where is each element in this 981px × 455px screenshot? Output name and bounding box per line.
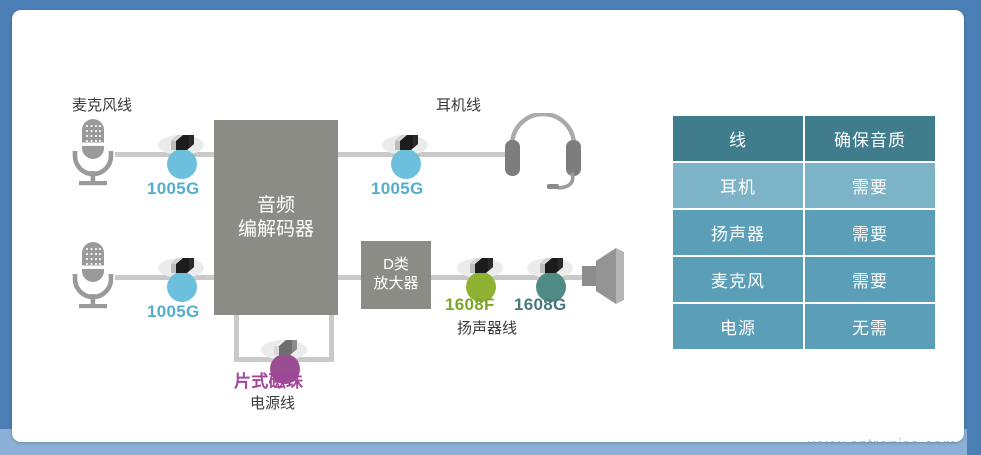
audio-codec-line2: 编解码器	[238, 218, 314, 242]
headset-icon	[500, 113, 586, 191]
microphone-icon-lower	[67, 241, 119, 309]
smd-chip-icon	[536, 255, 566, 277]
label-speaker-filter-f: 1608F	[445, 296, 495, 313]
amp-line2: 放大器	[373, 275, 418, 294]
outer-frame: 音频 编解码器 D类 放大器	[0, 0, 981, 455]
label-mic-lower-filter: 1005G	[147, 303, 200, 320]
smd-chip-icon	[167, 132, 197, 154]
label-speaker-line: 扬声器线	[457, 321, 517, 336]
diagram-panel: 音频 编解码器 D类 放大器	[12, 10, 964, 442]
spec-table-header-row: 线 确保音质	[673, 116, 935, 161]
label-power-chip-bead: 片式磁珠	[234, 373, 303, 390]
table-row: 耳机 需要	[673, 163, 935, 208]
frame-right-band	[967, 0, 981, 455]
cell-required: 无需	[805, 304, 935, 349]
class-d-amplifier-block: D类 放大器	[361, 241, 431, 309]
label-headphone-line: 耳机线	[436, 98, 481, 113]
cell-required: 需要	[805, 163, 935, 208]
cell-wire: 电源	[673, 304, 803, 349]
table-row: 电源 无需	[673, 304, 935, 349]
smd-chip-icon	[167, 255, 197, 277]
spec-table-header-quality: 确保音质	[805, 116, 935, 161]
audio-codec-block: 音频 编解码器	[214, 120, 338, 315]
smd-chip-icon	[466, 255, 496, 277]
label-headphone-filter: 1005G	[371, 180, 424, 197]
label-power-line: 电源线	[250, 396, 295, 411]
label-mic-upper-filter: 1005G	[147, 180, 200, 197]
wire-power-left	[234, 313, 239, 361]
watermark: www.cntronics.com	[808, 435, 957, 442]
component-headphone-filter	[378, 129, 432, 185]
smd-chip-icon-bead	[270, 337, 300, 359]
cell-wire: 耳机	[673, 163, 803, 208]
component-mic-lower-filter	[154, 252, 208, 308]
component-mic-upper-filter	[154, 129, 208, 185]
table-row: 麦克风 需要	[673, 257, 935, 302]
amp-line1: D类	[383, 256, 409, 275]
cell-wire: 扬声器	[673, 210, 803, 255]
spec-table: 线 确保音质 耳机 需要 扬声器 需要 麦克风 需要 电源	[671, 114, 937, 351]
label-mic-line: 麦克风线	[72, 98, 132, 113]
smd-chip-icon	[391, 132, 421, 154]
spec-table-header-wire: 线	[673, 116, 803, 161]
table-row: 扬声器 需要	[673, 210, 935, 255]
speaker-icon	[582, 247, 626, 305]
label-speaker-filter-g: 1608G	[514, 296, 567, 313]
microphone-icon-upper	[67, 118, 119, 186]
cell-required: 需要	[805, 210, 935, 255]
wire-power-right	[329, 313, 334, 361]
cell-wire: 麦克风	[673, 257, 803, 302]
audio-codec-line1: 音频	[257, 194, 295, 218]
cell-required: 需要	[805, 257, 935, 302]
